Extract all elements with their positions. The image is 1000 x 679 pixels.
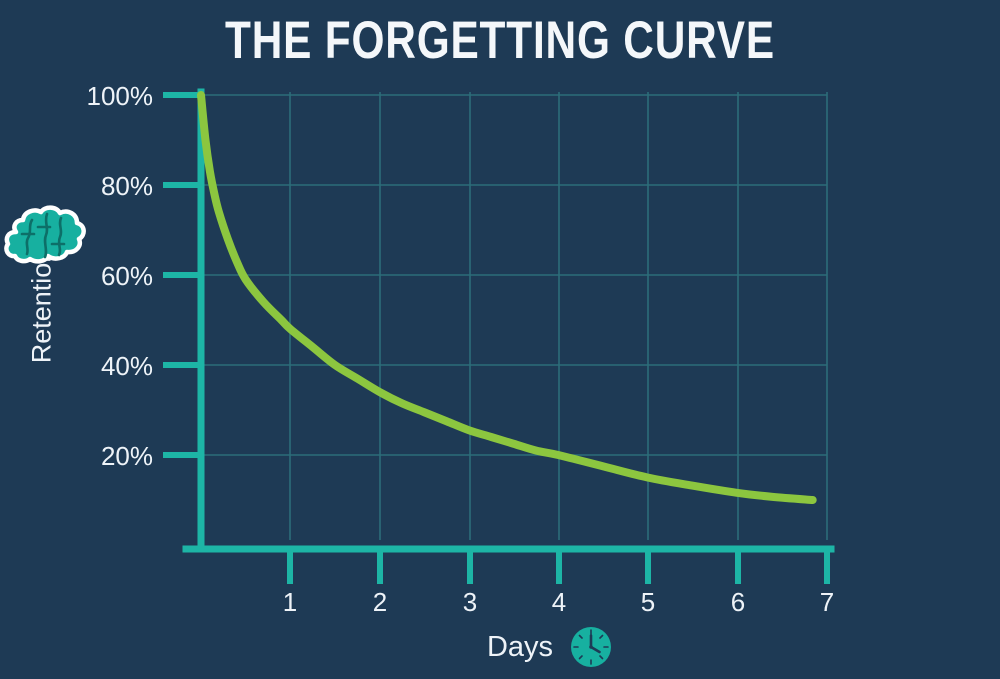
x-tick-label-4: 4: [534, 587, 584, 618]
forgetting-curve-line: [201, 95, 813, 500]
y-tick-label-100: 100%: [23, 81, 153, 112]
x-tick-label-5: 5: [623, 587, 673, 618]
x-tick-label-3: 3: [445, 587, 495, 618]
x-axis-ticks: [290, 549, 827, 584]
clock-icon: [569, 625, 613, 669]
grid-horizontal: [201, 95, 827, 455]
x-tick-label-7: 7: [802, 587, 852, 618]
x-tick-label-1: 1: [265, 587, 315, 618]
grid-vertical: [290, 92, 827, 540]
y-axis-ticks: [163, 95, 201, 455]
x-tick-label-2: 2: [355, 587, 405, 618]
chart-canvas: THE FORGETTING CURVE: [0, 0, 1000, 679]
y-tick-label-20: 20%: [23, 441, 153, 472]
x-axis-title-group: Days: [420, 622, 680, 672]
x-axis-title: Days: [487, 631, 553, 664]
brain-icon: [2, 202, 92, 264]
y-tick-label-80: 80%: [23, 171, 153, 202]
x-tick-label-6: 6: [713, 587, 763, 618]
